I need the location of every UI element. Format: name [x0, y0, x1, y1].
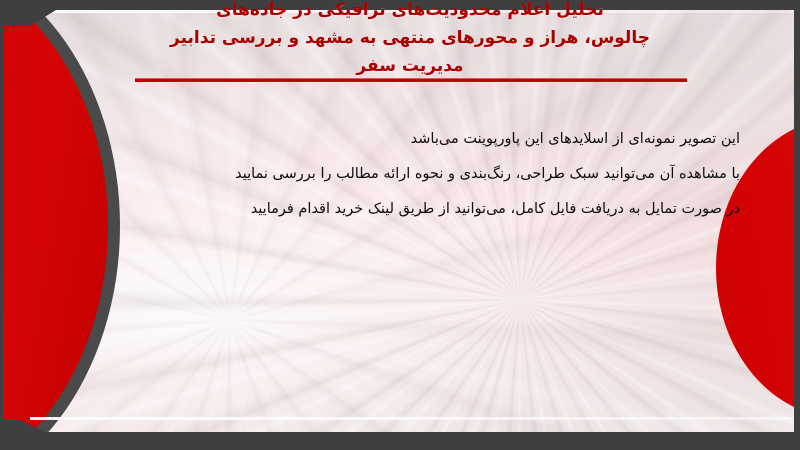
slide-body-text: این تصویر نمونه‌ای از اسلایدهای این پاور… [80, 122, 740, 227]
slide-title: تحلیل اعلام محدودیت‌های ترافیکی در جاده‌… [110, 0, 710, 80]
title-line-2: چالوس، هراز و محورهای منتهی به مشهد و بر… [110, 24, 710, 52]
title-underline-rule [135, 78, 687, 82]
body-line-3: در صورت تمایل به دریافت فایل کامل، می‌تو… [80, 192, 740, 227]
body-line-2: با مشاهده آن می‌توانید سبک طراحی، رنگ‌بن… [80, 157, 740, 192]
right-frame-edge [794, 0, 800, 450]
bottom-edge-highlight [30, 417, 800, 420]
slide-canvas: تحلیل اعلام محدودیت‌های ترافیکی در جاده‌… [0, 0, 800, 450]
title-line-1: تحلیل اعلام محدودیت‌های ترافیکی در جاده‌… [110, 0, 710, 24]
title-line-3: مدیریت سفر [110, 52, 710, 80]
left-frame-edge [0, 0, 3, 450]
body-line-1: این تصویر نمونه‌ای از اسلایدهای این پاور… [80, 122, 740, 157]
